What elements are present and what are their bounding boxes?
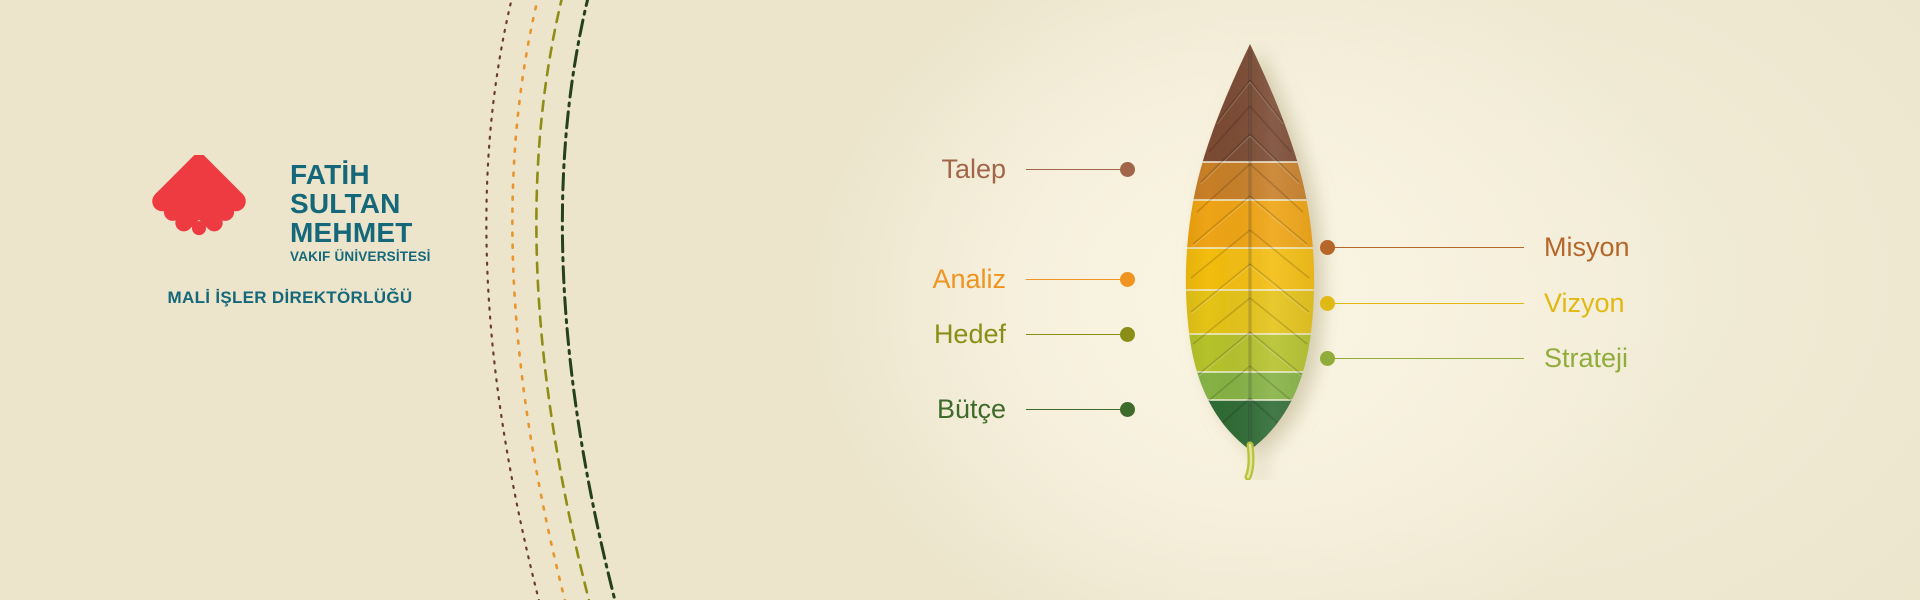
callout-leader-line [1334,247,1524,248]
callout-label: Strateji [1544,341,1628,375]
university-logo[interactable]: FATİH SULTAN MEHMET VAKIF ÜNİVERSİTESİ M… [140,150,440,365]
gradient-leaf-photo [1155,40,1345,480]
fsm-diamond-logo-mark [140,155,258,273]
callout-leader-line [1026,279,1121,280]
logo-subtitle: VAKIF ÜNİVERSİTESİ [290,249,450,265]
callout-leader-line [1334,358,1524,359]
callout-leader-line [1026,169,1121,170]
callout-dot [1120,162,1135,177]
callout-dot [1320,240,1335,255]
callout-misyon[interactable]: Misyon [1320,230,1630,264]
logo-line-mehmet: MEHMET [290,218,450,247]
callout-label: Hedef [934,317,1006,351]
callout-leader-line [1026,409,1121,410]
callout-label: Vizyon [1544,286,1625,320]
callout-dot [1120,327,1135,342]
callout-talep[interactable]: Talep [941,152,1135,186]
callout-leader-line [1026,334,1121,335]
callout-bte[interactable]: Bütçe [937,392,1135,426]
callout-strateji[interactable]: Strateji [1320,341,1628,375]
callout-dot [1320,296,1335,311]
callout-leader-line [1334,303,1524,304]
logo-line-sultan: SULTAN [290,189,450,218]
callout-label: Talep [941,152,1006,186]
logo-wordmark: FATİH SULTAN MEHMET VAKIF ÜNİVERSİTESİ [290,160,450,265]
callout-dot [1320,351,1335,366]
banner-canvas: FATİH SULTAN MEHMET VAKIF ÜNİVERSİTESİ M… [0,0,1920,600]
logo-line-fatih: FATİH [290,160,450,189]
callout-label: Misyon [1544,230,1630,264]
callout-dot [1120,402,1135,417]
callout-dot [1120,272,1135,287]
callout-hedef[interactable]: Hedef [934,317,1135,351]
callout-analiz[interactable]: Analiz [932,262,1135,296]
callout-vizyon[interactable]: Vizyon [1320,286,1625,320]
callout-label: Bütçe [937,392,1006,426]
department-title: MALİ İŞLER DİREKTÖRLÜĞÜ [125,288,455,308]
callout-label: Analiz [932,262,1006,296]
